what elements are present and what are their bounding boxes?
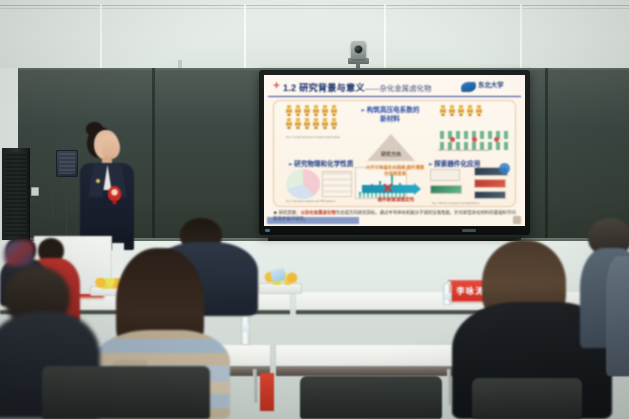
presenter-face [102,135,120,159]
challenge-note: 大尺寸单晶生长困难 器件薄膜合成难度高 [364,165,426,177]
interactive-smartboard[interactable]: + 1.2 研究背景与意义——杂化金属卤化物 东北大学 [259,70,530,235]
bottle-label [444,293,451,300]
chair-back-right [472,378,582,419]
wall-joint-1 [100,4,102,70]
presenter-speaker [78,122,140,250]
device-figure-1 [430,169,460,181]
water-bottle-right [443,283,452,305]
crystal-lattice-figure-1 [286,105,337,129]
footer-corner-badge [513,216,521,224]
wall-joint-4 [520,4,522,70]
footer-before: 研究思路： [279,210,301,215]
bullet-right: 探索器件化应用 [428,158,480,168]
control-panel-screen [59,153,75,174]
chair-back-center [300,376,442,419]
water-bottle-center [241,315,250,345]
speaker-grill-icon [5,152,26,236]
device-figure-5 [474,191,506,199]
x-cross-icon: ✕ [382,181,394,195]
attendee-right-edge [606,256,629,376]
pie-chart-figure [286,169,320,199]
slide-title-sub: 杂化金属卤化物 [380,84,432,93]
slide-title-dash: —— [365,84,380,93]
presenter-badge-pin [96,179,100,183]
upper-wall [0,0,629,72]
power-outlet-icon [31,187,39,196]
slide-title-main: 1.2 研究背景与意义 [283,83,365,93]
smartboard-power-led [265,229,270,232]
snack-bag [270,268,286,282]
ceiling-seam-line-2 [0,8,629,9]
desk-leg-2 [447,369,451,405]
slide-title-underline [268,96,521,97]
cable-3 [66,177,70,237]
footer-highlight: 以杂化金属卤化物 [301,210,336,215]
slide-title: 1.2 研究背景与意义——杂化金属卤化物 [283,80,431,94]
slide-page-badge [499,163,510,174]
chair-back-left [42,366,210,419]
chalkboard-seam-left [152,68,155,241]
smartboard-brand-mark [462,229,476,232]
slide-content-area: Fig. 1 Crystal structures of hybrid meta… [273,100,516,207]
figure-caption-bottom-left: Fig. 3 Structure analysis and XRD patter… [286,200,335,203]
ceiling-seam-line [0,5,629,6]
bullet-top: 构筑高压电系数的新材料 [359,107,421,125]
chalkboard-seam-right [545,68,548,241]
camera-lens-icon [354,45,363,54]
figure-caption-bottom-right: Fig. 4 Device prototypes and application… [432,202,479,205]
attendee-right-edge-body [606,256,629,376]
attendee-scarf-pattern [4,240,34,266]
data-table-figure [322,171,352,197]
wall-joint-3 [384,4,386,70]
university-emblem-icon [461,82,476,92]
university-name: 东北大学 [478,83,504,90]
wall-joint-2 [244,4,246,70]
figure-caption-top-left: Fig. 1 Crystal structures of hybrid meta… [286,136,340,139]
smartboard-screen[interactable]: + 1.2 研究背景与意义——杂化金属卤化物 东北大学 [264,75,525,226]
device-figure-3 [430,185,462,194]
device-figure-4 [474,179,506,188]
figure-caption-top-right: Fig. 2 Chain and layered coordination mo… [438,149,489,152]
presentation-slide: + 1.2 研究背景与意义——杂化金属卤化物 东北大学 [264,75,525,226]
stability-note: 器件耐高温稳定性 [366,197,426,203]
desk-panel-red-2 [260,373,274,411]
wall-control-panel[interactable] [56,150,78,177]
triangle-label: 研究方向 [370,151,412,158]
bottle-label-2 [242,325,249,332]
desk-leg-1 [253,369,257,403]
crystal-lattice-figure-2 [440,105,482,116]
cable-2 [52,176,62,222]
plus-icon: + [272,82,281,91]
red-corsage-icon [108,186,121,201]
footer-text-selection [267,217,359,224]
university-logo: 东北大学 [461,79,519,94]
bullet-left: 研究物理和化学性质 [288,158,353,168]
classroom-presentation-scene: + 1.2 研究背景与意义——杂化金属卤化物 东北大学 [0,0,629,419]
wall-speaker-cabinet [2,148,30,240]
